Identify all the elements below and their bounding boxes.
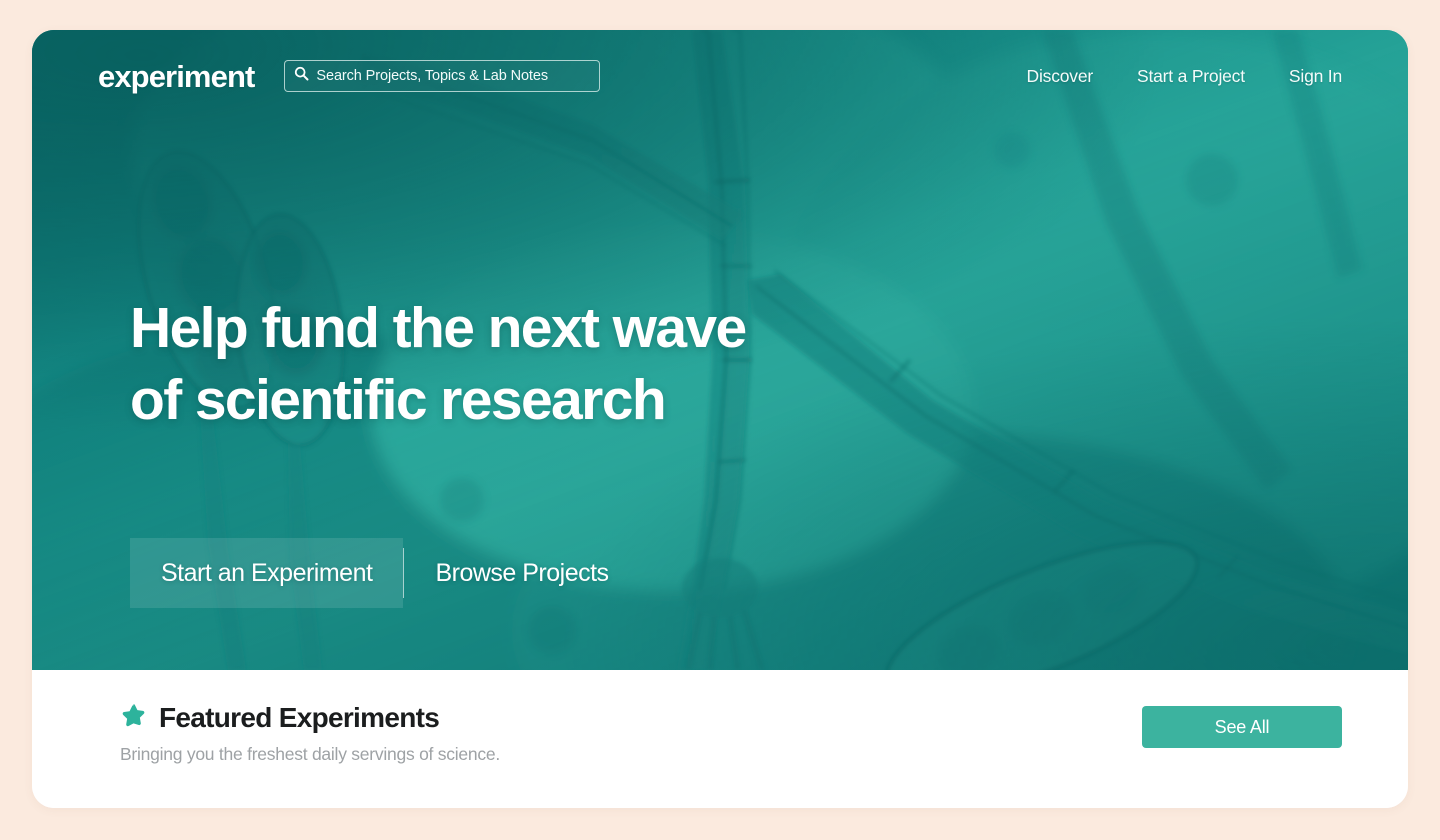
search-input[interactable]: [316, 68, 590, 84]
featured-experiments-section: Featured Experiments Bringing you the fr…: [32, 670, 1408, 808]
star-icon: [120, 702, 147, 734]
featured-text-block: Featured Experiments Bringing you the fr…: [120, 670, 500, 765]
hero-headline-line-2: of scientific research: [130, 364, 746, 436]
browse-projects-button[interactable]: Browse Projects: [404, 538, 639, 608]
featured-heading: Featured Experiments: [120, 702, 500, 734]
featured-subtitle: Bringing you the freshest daily servings…: [120, 744, 500, 765]
app-card: experiment Discover Start a Project Sign…: [32, 30, 1408, 808]
featured-title: Featured Experiments: [159, 702, 439, 734]
nav-link-discover[interactable]: Discover: [1027, 66, 1093, 87]
hero-cta-group: Start an Experiment Browse Projects: [130, 538, 640, 608]
nav-link-sign-in[interactable]: Sign In: [1289, 66, 1342, 87]
hero-section: experiment Discover Start a Project Sign…: [32, 30, 1408, 670]
hero-headline: Help fund the next wave of scientific re…: [130, 292, 746, 436]
nav-link-start-a-project[interactable]: Start a Project: [1137, 66, 1245, 87]
search-box[interactable]: [284, 60, 600, 92]
search-icon: [294, 66, 309, 86]
see-all-button[interactable]: See All: [1142, 706, 1342, 748]
hero-headline-line-1: Help fund the next wave: [130, 292, 746, 364]
nav-links: Discover Start a Project Sign In: [1027, 66, 1342, 87]
brand-logo[interactable]: experiment: [98, 61, 254, 92]
start-an-experiment-button[interactable]: Start an Experiment: [130, 538, 403, 608]
top-navigation-bar: experiment Discover Start a Project Sign…: [32, 30, 1408, 122]
